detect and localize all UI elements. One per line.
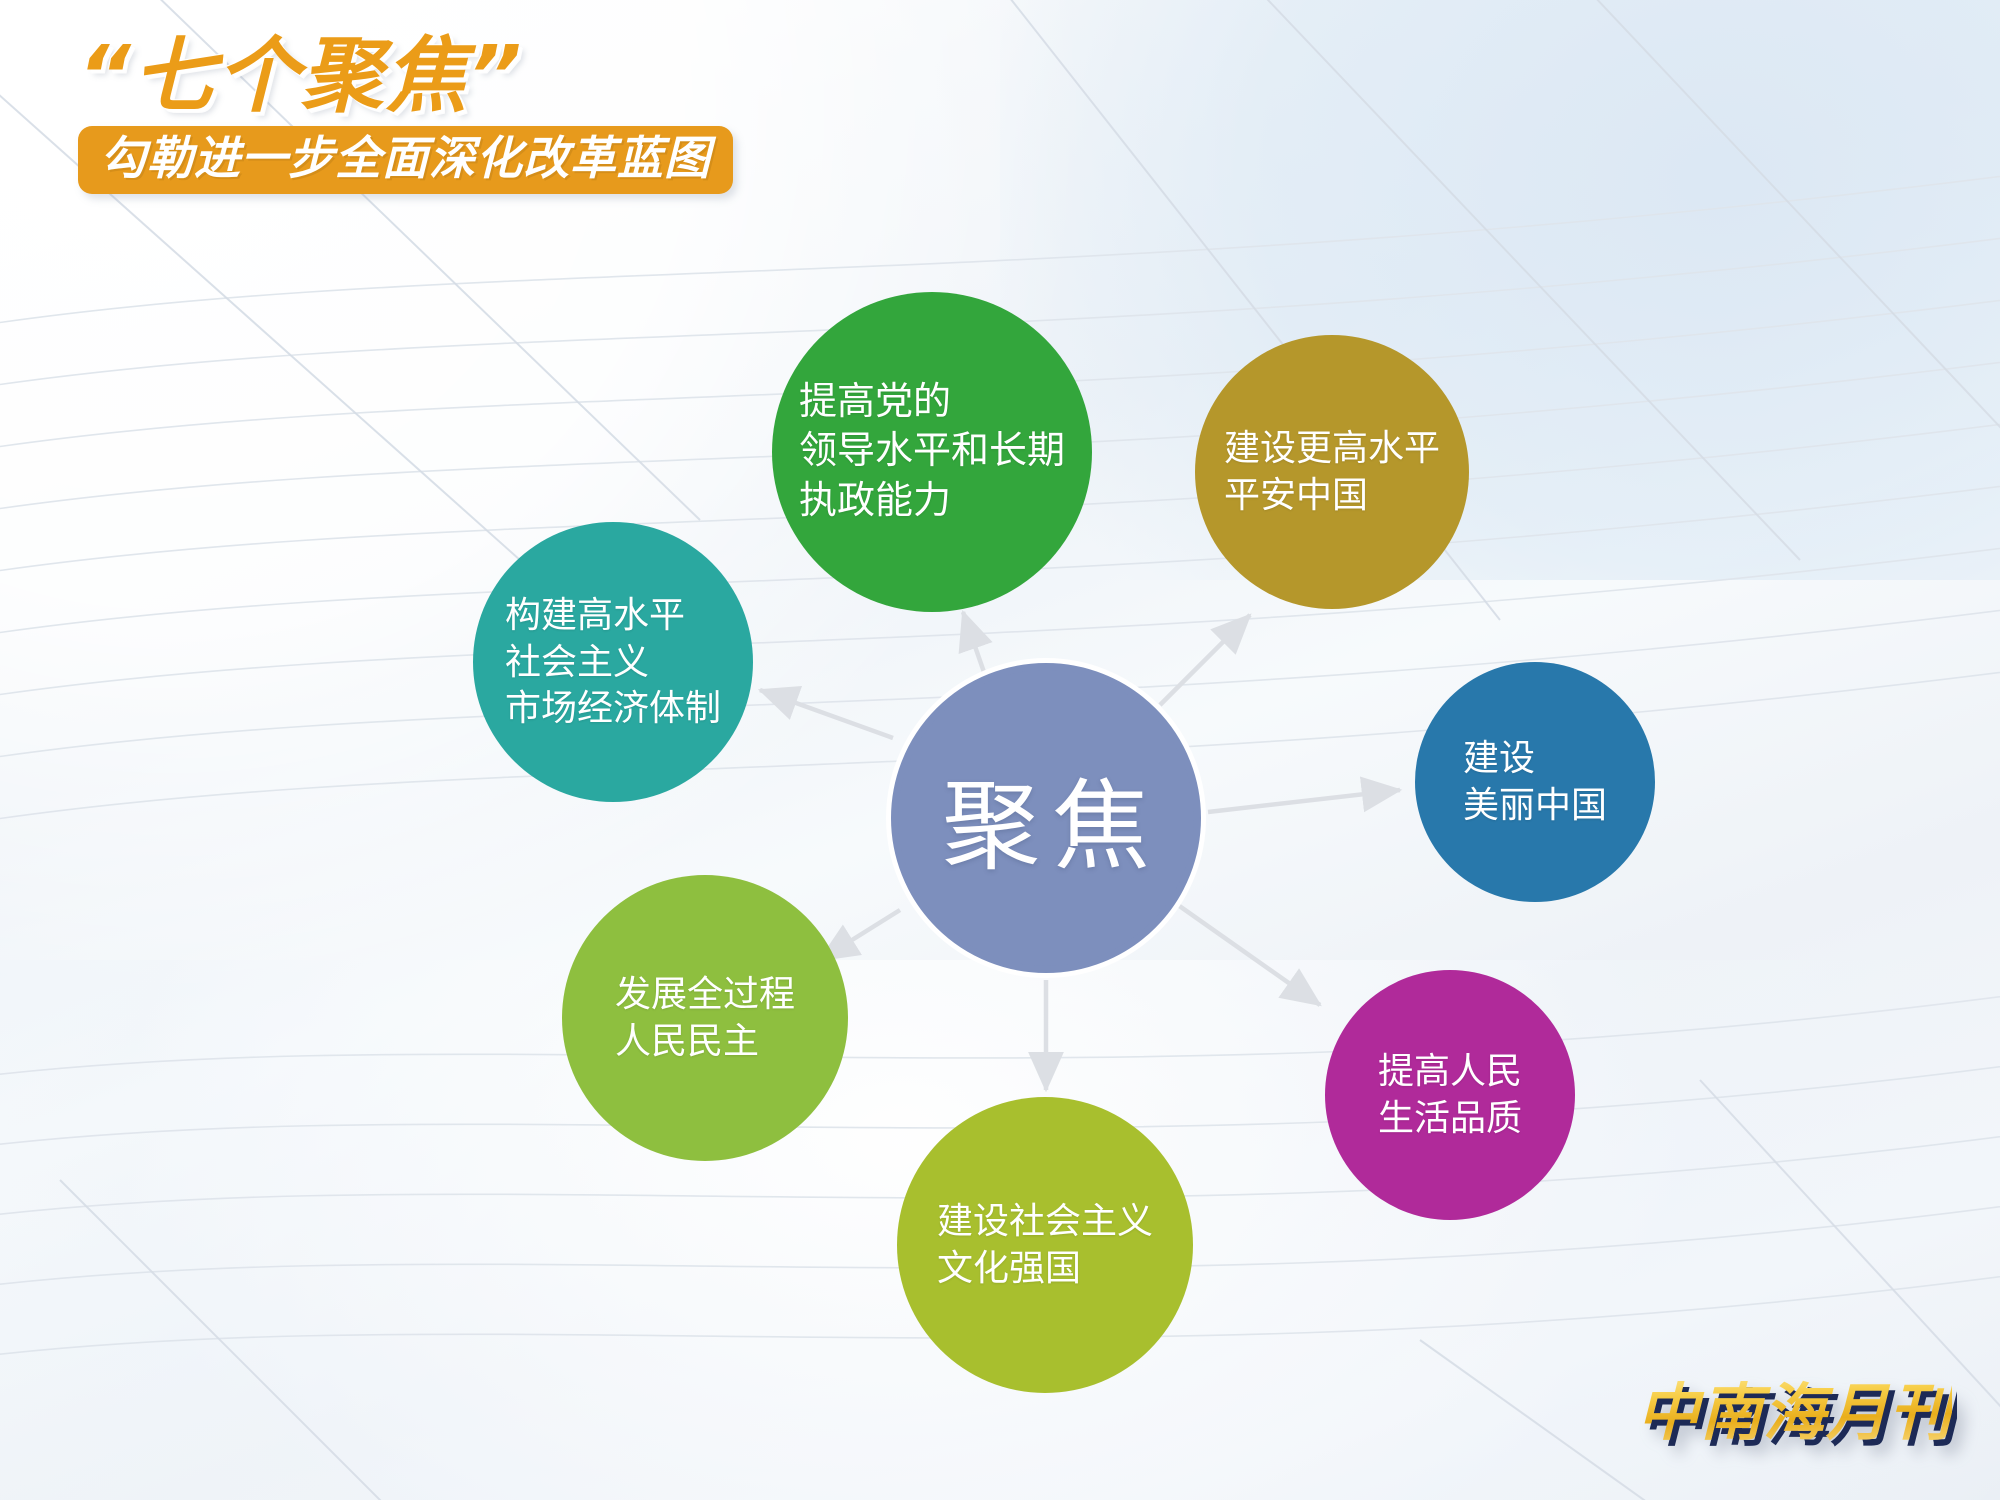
arrow-to-safe-china — [1160, 615, 1250, 705]
node-beautiful-china-label: 建设 美丽中国 — [1463, 735, 1607, 829]
node-whole-process-democracy[interactable]: 发展全过程 人民民主 — [562, 875, 848, 1161]
publication-logo: 中南海月刊 — [1637, 1362, 1952, 1452]
node-safe-china[interactable]: 建设更高水平 平安中国 — [1195, 335, 1469, 609]
arrow-to-market-economy — [760, 690, 893, 738]
node-life-quality-label: 提高人民 生活品质 — [1378, 1048, 1522, 1142]
node-market-economy-label: 构建高水平 社会主义 市场经济体制 — [505, 592, 721, 732]
node-party-leadership[interactable]: 提高党的 领导水平和长期 执政能力 — [772, 292, 1092, 612]
center-node-focus[interactable]: 聚焦 — [886, 658, 1206, 978]
subtitle-banner: 勾勒进一步全面深化改革蓝图 — [78, 126, 733, 194]
center-node-label: 聚焦 — [930, 747, 1162, 889]
node-party-leadership-label: 提高党的 领导水平和长期 执政能力 — [799, 378, 1065, 526]
header-block: “七个聚焦” 勾勒进一步全面深化改革蓝图 — [78, 34, 733, 194]
node-whole-process-democracy-label: 发展全过程 人民民主 — [615, 971, 795, 1065]
node-life-quality[interactable]: 提高人民 生活品质 — [1325, 970, 1575, 1220]
node-beautiful-china[interactable]: 建设 美丽中国 — [1415, 662, 1655, 902]
node-culture-power[interactable]: 建设社会主义 文化强国 — [897, 1097, 1193, 1393]
arrow-to-beautiful-china — [1208, 790, 1400, 812]
node-culture-power-label: 建设社会主义 文化强国 — [937, 1198, 1153, 1292]
infographic-canvas: “七个聚焦” 勾勒进一步全面深化改革蓝图 聚焦 提高党的 领导水平和长期 执政能… — [0, 0, 2000, 1500]
arrow-to-party-leadership — [963, 612, 985, 675]
node-market-economy[interactable]: 构建高水平 社会主义 市场经济体制 — [473, 522, 753, 802]
page-title: “七个聚焦” — [78, 34, 733, 120]
page-subtitle: 勾勒进一步全面深化改革蓝图 — [100, 135, 711, 181]
arrow-to-life-quality — [1178, 905, 1320, 1005]
node-safe-china-label: 建设更高水平 平安中国 — [1224, 425, 1440, 519]
